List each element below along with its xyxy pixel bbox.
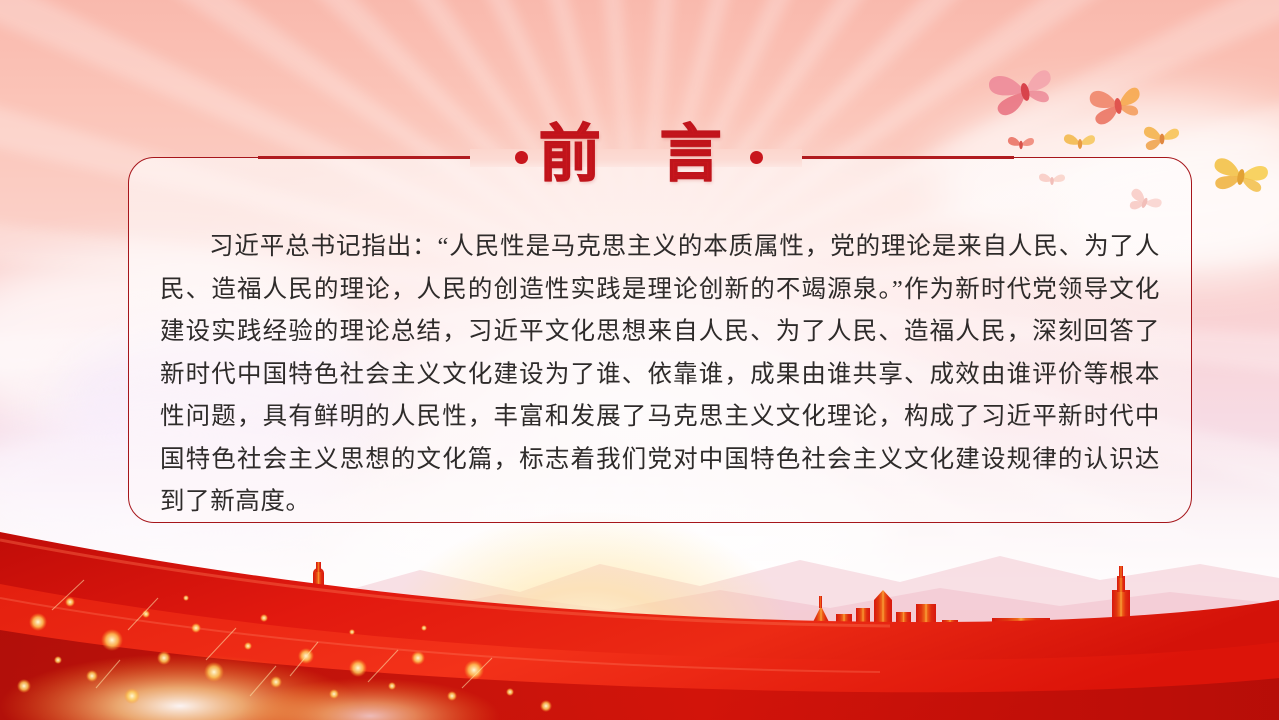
page-title: 前 言 (0, 103, 1279, 193)
slide-canvas: 前 言 习近平总书记指出：“人民性是马克思主义的本质属性，党的理论是来自人民、为… (0, 0, 1279, 720)
city-skyline-silhouette (0, 562, 1279, 692)
golden-sparkle-particles (0, 510, 620, 720)
body-paragraph: 习近平总书记指出：“人民性是马克思主义的本质属性，党的理论是来自人民、为了人民、… (160, 226, 1160, 524)
distant-mountains (0, 520, 1279, 640)
sun-glow (378, 510, 798, 680)
